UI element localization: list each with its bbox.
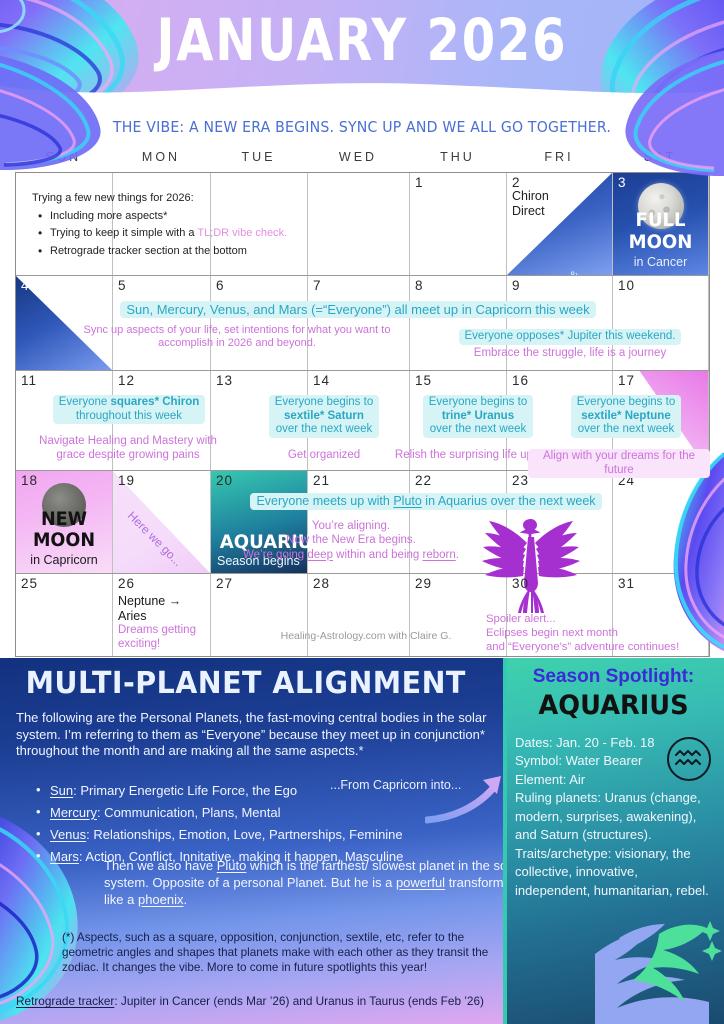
day-number: 17 xyxy=(618,373,635,388)
day-cell-2[interactable]: Healing & Feeling! 2 ChironDirect xyxy=(507,173,613,275)
aspects-footnote: (*) Aspects, such as a square, oppositio… xyxy=(62,930,490,976)
day-cell-empty-4[interactable] xyxy=(308,173,410,275)
planet-desc: : Primary Energetic Life Force, the Ego xyxy=(73,783,297,798)
intro-bullet-1: Including more aspects* xyxy=(50,211,287,223)
pls-3d: reborn xyxy=(423,549,456,561)
calendar-week-3: 11 12 13 14 15 16 17 Everyone squares* C… xyxy=(16,371,709,471)
planet-item-venus: Venus: Relationships, Emotion, Love, Par… xyxy=(50,827,490,842)
day-cell-5[interactable]: 5 xyxy=(113,276,211,370)
pls-1: You’re aligning. xyxy=(312,520,390,532)
planet-name: Mercury xyxy=(50,805,97,820)
day-cell-6[interactable]: 6 xyxy=(211,276,308,370)
event-chiron-square-sub: Navigate Healing and Mastery with grace … xyxy=(28,435,228,462)
day-number: 8 xyxy=(415,278,424,293)
planet-name: Venus xyxy=(50,827,86,842)
day-of-week-header: SUN MON TUE WED THU FRI SAT xyxy=(15,150,710,170)
event-neptune-sextile-text: Everyone begins tosextile* Neptuneover t… xyxy=(571,395,681,438)
intro-bullet-list: Including more aspects* Trying to keep i… xyxy=(32,211,287,258)
event-neptune-sextile-sub-text: Align with your dreams for the future xyxy=(528,449,710,478)
multi-planet-alignment-panel: MULTI-PLANET ALIGNMENT The following are… xyxy=(0,658,503,1024)
day-number: 7 xyxy=(313,278,322,293)
pls-2: Now the New Era begins. xyxy=(286,534,416,546)
sa-b: sextile* Saturn xyxy=(284,410,364,422)
page-header: JANUARY 2026 xyxy=(0,0,724,100)
panel-left-intro: The following are the Personal Planets, … xyxy=(16,710,490,760)
intro-bullet-2: Trying to keep it simple with a TL;DR vi… xyxy=(50,228,287,240)
day-number: 1 xyxy=(415,175,424,190)
day-number: 27 xyxy=(216,576,233,591)
calendar-week-1: 1 Healing & Feeling! 2 ChironDirect 3 FU… xyxy=(16,173,709,276)
full-moon-title: FULL MOON xyxy=(615,209,705,253)
phoenix-word: phoenix xyxy=(138,892,184,907)
day-number: 9 xyxy=(512,278,521,293)
day-cell-18-new-moon[interactable]: 18 NEW MOON in Capricorn xyxy=(16,471,113,573)
pls-3a: We’re going xyxy=(243,549,307,561)
aquarius-symbol: Symbol: Water Bearer xyxy=(515,752,715,770)
event-neptune-sextile: Everyone begins tosextile* Neptuneover t… xyxy=(536,395,716,438)
calendar-week-4: 18 NEW MOON in Capricorn 19 Here we go..… xyxy=(16,471,709,574)
sp-3: and “Everyone’s” adventure continues! xyxy=(486,641,679,653)
day-number: 21 xyxy=(313,473,330,488)
retrograde-tracker-text: : Jupiter in Cancer (ends Mar ’26) and U… xyxy=(114,994,484,1008)
event-jupiter-opposition: Everyone opposes* Jupiter this weekend. xyxy=(430,329,710,345)
pls-3e: . xyxy=(456,549,459,561)
header-bottom-curve xyxy=(0,76,724,100)
day-cell-4[interactable]: 4 xyxy=(16,276,113,370)
day-number: 25 xyxy=(21,576,38,591)
sa-a: Everyone begins to xyxy=(275,396,373,408)
pls-3c: within and being xyxy=(333,549,423,561)
event-spoiler-alert: Spoiler alert... Eclipses begin next mon… xyxy=(486,612,706,654)
day-number: 13 xyxy=(216,373,233,388)
event-pluto-subtext: You’re aligning. Now the New Era begins.… xyxy=(216,519,486,562)
event-jupiter-opposition-sub: Embrace the struggle, life is a journey xyxy=(430,347,710,361)
day-number: 26 xyxy=(118,576,135,591)
tldr-link[interactable]: TL;DR vibe check. xyxy=(197,227,287,239)
planet-name: Mars xyxy=(50,849,79,864)
chiron-direct-label: ChironDirect xyxy=(512,189,549,219)
day-number: 14 xyxy=(313,373,330,388)
day-number: 5 xyxy=(118,278,127,293)
day-number: 20 xyxy=(216,473,233,488)
day-number: 2 xyxy=(512,175,521,190)
calendar-week-5: 25 26 Neptune →Aries Dreams getting exci… xyxy=(16,574,709,656)
day-number: 28 xyxy=(313,576,330,591)
aquarius-water-bearer-art xyxy=(589,884,724,1024)
ur-c: over the next week xyxy=(430,423,527,435)
phoenix-icon xyxy=(471,493,591,613)
pl-1: Everyone meets up with xyxy=(256,494,393,508)
ne-b: sextile* Neptune xyxy=(581,410,670,422)
planet-desc: : Relationships, Emotion, Love, Partners… xyxy=(86,827,403,842)
cs-a: Everyone xyxy=(59,396,111,408)
aquarius-ruling-planets: Ruling planets: Uranus (change, modern, … xyxy=(515,789,715,844)
event-capricorn-meetup-text: Sun, Mercury, Venus, and Mars (=“Everyon… xyxy=(120,301,595,318)
day-number: 15 xyxy=(415,373,432,388)
powerful-word: powerful xyxy=(396,875,445,890)
day-cell-28[interactable]: 28 xyxy=(308,574,410,656)
event-saturn-sextile: Everyone begins tosextile* Saturnover th… xyxy=(234,395,414,438)
pl-3: in Aquarius over the next week xyxy=(422,494,596,508)
dow-mon: MON xyxy=(112,150,210,170)
new-moon-title: NEW MOON xyxy=(18,509,109,551)
event-capricorn-meetup: Sun, Mercury, Venus, and Mars (=“Everyon… xyxy=(78,301,638,318)
event-neptune-aries: Neptune →Aries xyxy=(118,594,181,624)
day-number: 4 xyxy=(21,278,30,293)
event-jupiter-opposition-text: Everyone opposes* Jupiter this weekend. xyxy=(459,329,682,345)
event-chiron-square: Everyone squares* Chironthroughout this … xyxy=(34,395,224,424)
season-spotlight-body: Dates: Jan. 20 - Feb. 18 Symbol: Water B… xyxy=(515,734,715,900)
ne-a: Everyone begins to xyxy=(577,396,675,408)
site-credit: Healing-Astrology.com with Claire G. xyxy=(266,630,466,642)
calendar-page: JANUARY 2026 THE VIBE: A NEW ERA BEGINS.… xyxy=(0,0,724,1024)
event-neptune-sextile-sub: Align with your dreams for the future xyxy=(528,449,710,478)
retrograde-tracker-label: Retrograde tracker xyxy=(16,994,114,1008)
day-number: 22 xyxy=(415,473,432,488)
sp-2: Eclipses begin next month xyxy=(486,627,618,639)
pl-2: Pluto xyxy=(393,494,422,508)
pluto-p4: . xyxy=(184,892,188,907)
calendar-week-2: 4 5 6 7 8 9 10 Sun, Mercury, Venus, and … xyxy=(16,276,709,371)
planet-item-mercury: Mercury: Communication, Plans, Mental xyxy=(50,805,490,820)
calendar-grid: 1 Healing & Feeling! 2 ChironDirect 3 FU… xyxy=(15,172,710,657)
intro-lead: Trying a few new things for 2026: xyxy=(32,193,287,205)
dow-fri: FRI xyxy=(506,150,612,170)
curved-arrow-icon xyxy=(425,766,503,826)
new-moon-subtitle: in Capricorn xyxy=(16,553,112,567)
ne-c: over the next week xyxy=(578,423,675,435)
retrograde-tracker: Retrograde tracker: Jupiter in Cancer (e… xyxy=(16,994,496,1008)
pluto-p1: Then we also have xyxy=(104,858,217,873)
dow-sat: SAT xyxy=(612,150,708,170)
ur-b: trine* Uranus xyxy=(442,410,514,422)
cs-c: throughout this week xyxy=(76,410,182,422)
event-chiron-square-text: Everyone squares* Chironthroughout this … xyxy=(53,395,206,424)
day-number: 11 xyxy=(21,373,37,388)
page-title: JANUARY 2026 xyxy=(29,6,695,74)
dow-sun: SUN xyxy=(15,150,112,170)
day-number: 10 xyxy=(618,278,635,293)
day-number: 30 xyxy=(512,576,529,591)
event-uranus-trine-text: Everyone begins totrine* Uranusover the … xyxy=(423,395,533,438)
day-number: 6 xyxy=(216,278,225,293)
season-spotlight-sign: AQUARIUS xyxy=(509,690,719,721)
season-spotlight-title: Season Spotlight: xyxy=(503,666,724,688)
panel-right-edge xyxy=(503,658,507,1024)
event-pluto-banner-text: Everyone meets up with Pluto in Aquarius… xyxy=(250,493,601,510)
event-neptune-aries-sub: Dreams getting exciting! xyxy=(118,624,203,652)
sa-c: over the next week xyxy=(276,423,373,435)
dow-wed: WED xyxy=(307,150,409,170)
day-cell-27[interactable]: 27 xyxy=(211,574,308,656)
aquarius-element: Element: Air xyxy=(515,771,715,789)
planet-desc: : Communication, Plans, Mental xyxy=(97,805,281,820)
day-number: 12 xyxy=(118,373,135,388)
intro-note: Trying a few new things for 2026: Includ… xyxy=(32,193,287,263)
planet-name: Sun xyxy=(50,783,73,798)
intro-bullet-2-text: Trying to keep it simple with a xyxy=(50,227,197,239)
day-cell-7[interactable]: 7 xyxy=(308,276,410,370)
day-number: 19 xyxy=(118,473,135,488)
day-cell-25[interactable]: 25 xyxy=(16,574,113,656)
day-number: 3 xyxy=(618,175,627,190)
event-capricorn-meetup-sub: Sync up aspects of your life, set intent… xyxy=(72,324,402,350)
panel-left-title: MULTI-PLANET ALIGNMENT xyxy=(26,666,466,701)
season-spotlight-panel: Season Spotlight: AQUARIUS Dates: Jan. 2… xyxy=(503,658,724,1024)
day-number: 23 xyxy=(512,473,529,488)
day-cell-19[interactable]: 19 Here we go... xyxy=(113,471,211,573)
pluto-word: Pluto xyxy=(217,858,247,873)
event-saturn-sextile-text: Everyone begins tosextile* Saturnover th… xyxy=(269,395,379,438)
intro-bullet-3: Retrograde tracker section at the bottom xyxy=(50,246,287,258)
pls-3b: deep xyxy=(307,549,333,561)
pluto-paragraph: Then we also have Pluto which is the far… xyxy=(104,858,503,909)
day-number: 16 xyxy=(512,373,529,388)
cs-b: squares* Chiron xyxy=(110,396,199,408)
day-number: 31 xyxy=(618,576,635,591)
vibe-tagline: THE VIBE: A NEW ERA BEGINS. SYNC UP AND … xyxy=(22,118,703,136)
full-moon-subtitle: in Cancer xyxy=(613,255,708,269)
full-moon-spillover-triangle xyxy=(16,276,112,370)
day-cell-3-full-moon[interactable]: 3 FULL MOON in Cancer xyxy=(613,173,709,275)
dow-thu: THU xyxy=(409,150,506,170)
dow-tue: TUE xyxy=(210,150,307,170)
ur-a: Everyone begins to xyxy=(429,396,527,408)
sp-1: Spoiler alert... xyxy=(486,613,556,625)
day-cell-1[interactable]: 1 xyxy=(410,173,507,275)
aquarius-dates: Dates: Jan. 20 - Feb. 18 xyxy=(515,734,715,752)
day-number: 18 xyxy=(21,473,38,488)
day-cell-26[interactable]: 26 Neptune →Aries Dreams getting excitin… xyxy=(113,574,211,656)
event-pluto-banner: Everyone meets up with Pluto in Aquarius… xyxy=(156,493,696,510)
day-cell-24[interactable]: 24 xyxy=(613,471,709,573)
day-number: 29 xyxy=(415,576,432,591)
bottom-panels: MULTI-PLANET ALIGNMENT The following are… xyxy=(0,658,724,1024)
